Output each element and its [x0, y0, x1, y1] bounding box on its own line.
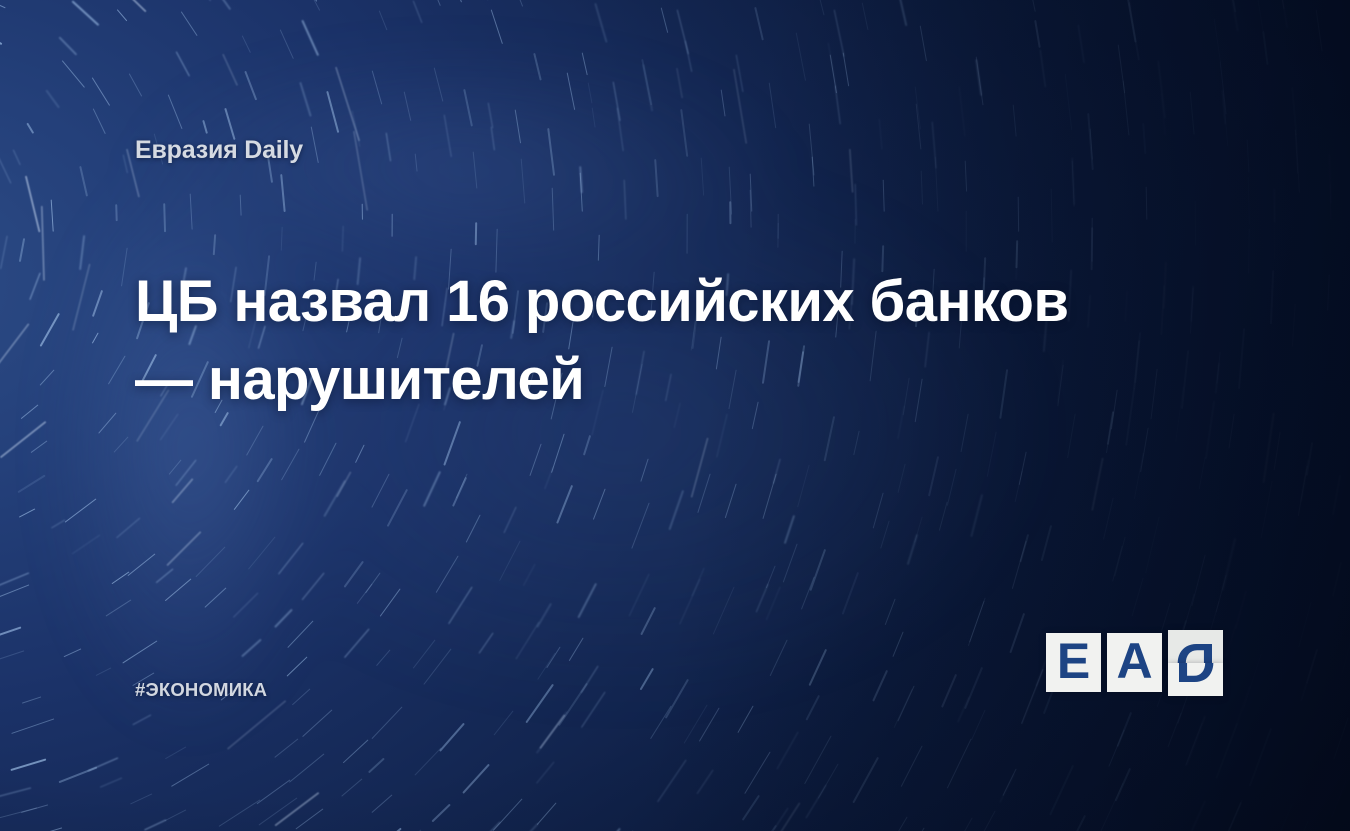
logo-letter-e: E	[1057, 636, 1090, 686]
logo-d-lower-half: D	[1168, 663, 1223, 696]
logo-tile-d-mark: D D	[1168, 630, 1223, 696]
share-card: Евразия Daily ЦБ назвал 16 российских ба…	[0, 0, 1350, 831]
logo-letter-d-upper: D	[1168, 630, 1223, 663]
logo-d-upper-half: D	[1168, 630, 1223, 663]
logo-letter-d-lower: D	[1168, 663, 1223, 696]
logo-tile-a: A	[1107, 633, 1162, 692]
article-headline: ЦБ назвал 16 российских банков — нарушит…	[135, 263, 1095, 419]
logo-tile-e: E	[1046, 633, 1101, 692]
logo-letter-a: A	[1116, 636, 1152, 686]
category-tag: #ЭКОНОМИКА	[135, 679, 267, 701]
site-name: Евразия Daily	[135, 136, 303, 165]
card-content: Евразия Daily ЦБ назвал 16 российских ба…	[0, 0, 1350, 831]
eadaily-logo: E A D D	[1046, 630, 1223, 696]
